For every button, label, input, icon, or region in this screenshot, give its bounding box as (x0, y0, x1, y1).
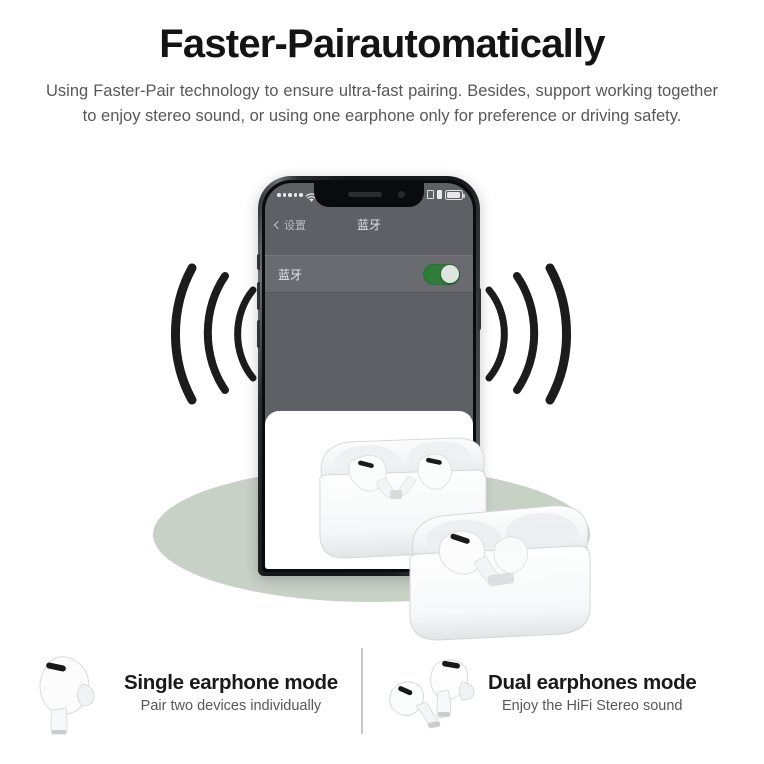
power-button[interactable] (478, 288, 481, 330)
feature-list: Single earphone mode Pair two devices in… (0, 636, 764, 748)
feature-title: Single earphone mode (124, 671, 338, 695)
battery-icon (427, 190, 463, 200)
signal-strength-icon (277, 193, 303, 197)
feature-text-block: Dual earphones mode Enjoy the HiFi Stere… (482, 671, 696, 714)
wave-arc-left-inner (238, 290, 253, 378)
feature-text-block: Single earphone mode Pair two devices in… (118, 671, 338, 714)
bluetooth-label: 蓝牙 (278, 266, 302, 283)
header-block: Faster-Pairautomatically Using Faster-Pa… (0, 22, 764, 130)
feature-dual-earphones-mode: Dual earphones mode Enjoy the HiFi Stere… (386, 636, 736, 748)
feature-subtitle: Enjoy the HiFi Stereo sound (488, 698, 696, 714)
wave-arc-right-mid (517, 276, 534, 390)
wave-arc-left-outer (175, 268, 192, 400)
single-earbud-icon (22, 642, 118, 742)
feature-divider (361, 648, 363, 734)
bluetooth-setting-row[interactable]: 蓝牙 (265, 255, 473, 293)
dual-earbuds-icon (386, 642, 482, 742)
bluetooth-toggle[interactable] (423, 264, 460, 285)
feature-subtitle: Pair two devices individually (124, 698, 338, 714)
feature-title: Dual earphones mode (488, 671, 696, 695)
volume-up-button[interactable] (257, 282, 260, 310)
notch (314, 183, 424, 207)
mute-switch[interactable] (257, 254, 260, 270)
product-feature-page: Faster-Pairautomatically Using Faster-Pa… (0, 0, 764, 764)
volume-down-button[interactable] (257, 320, 260, 348)
earpiece-speaker (348, 192, 382, 197)
front-camera-icon (398, 191, 405, 198)
page-description: Using Faster-Pair technology to ensure u… (46, 79, 718, 130)
feature-single-earphone-mode: Single earphone mode Pair two devices in… (22, 636, 352, 748)
wave-arc-right-outer (550, 268, 567, 400)
screen-title: 蓝牙 (265, 216, 473, 233)
navigation-bar: 设置 蓝牙 (265, 211, 473, 241)
charging-case-front (392, 500, 596, 642)
wave-arc-right-inner (489, 290, 504, 378)
wave-arc-left-mid (208, 276, 225, 390)
toggle-knob (441, 265, 459, 283)
page-title: Faster-Pairautomatically (0, 22, 764, 67)
